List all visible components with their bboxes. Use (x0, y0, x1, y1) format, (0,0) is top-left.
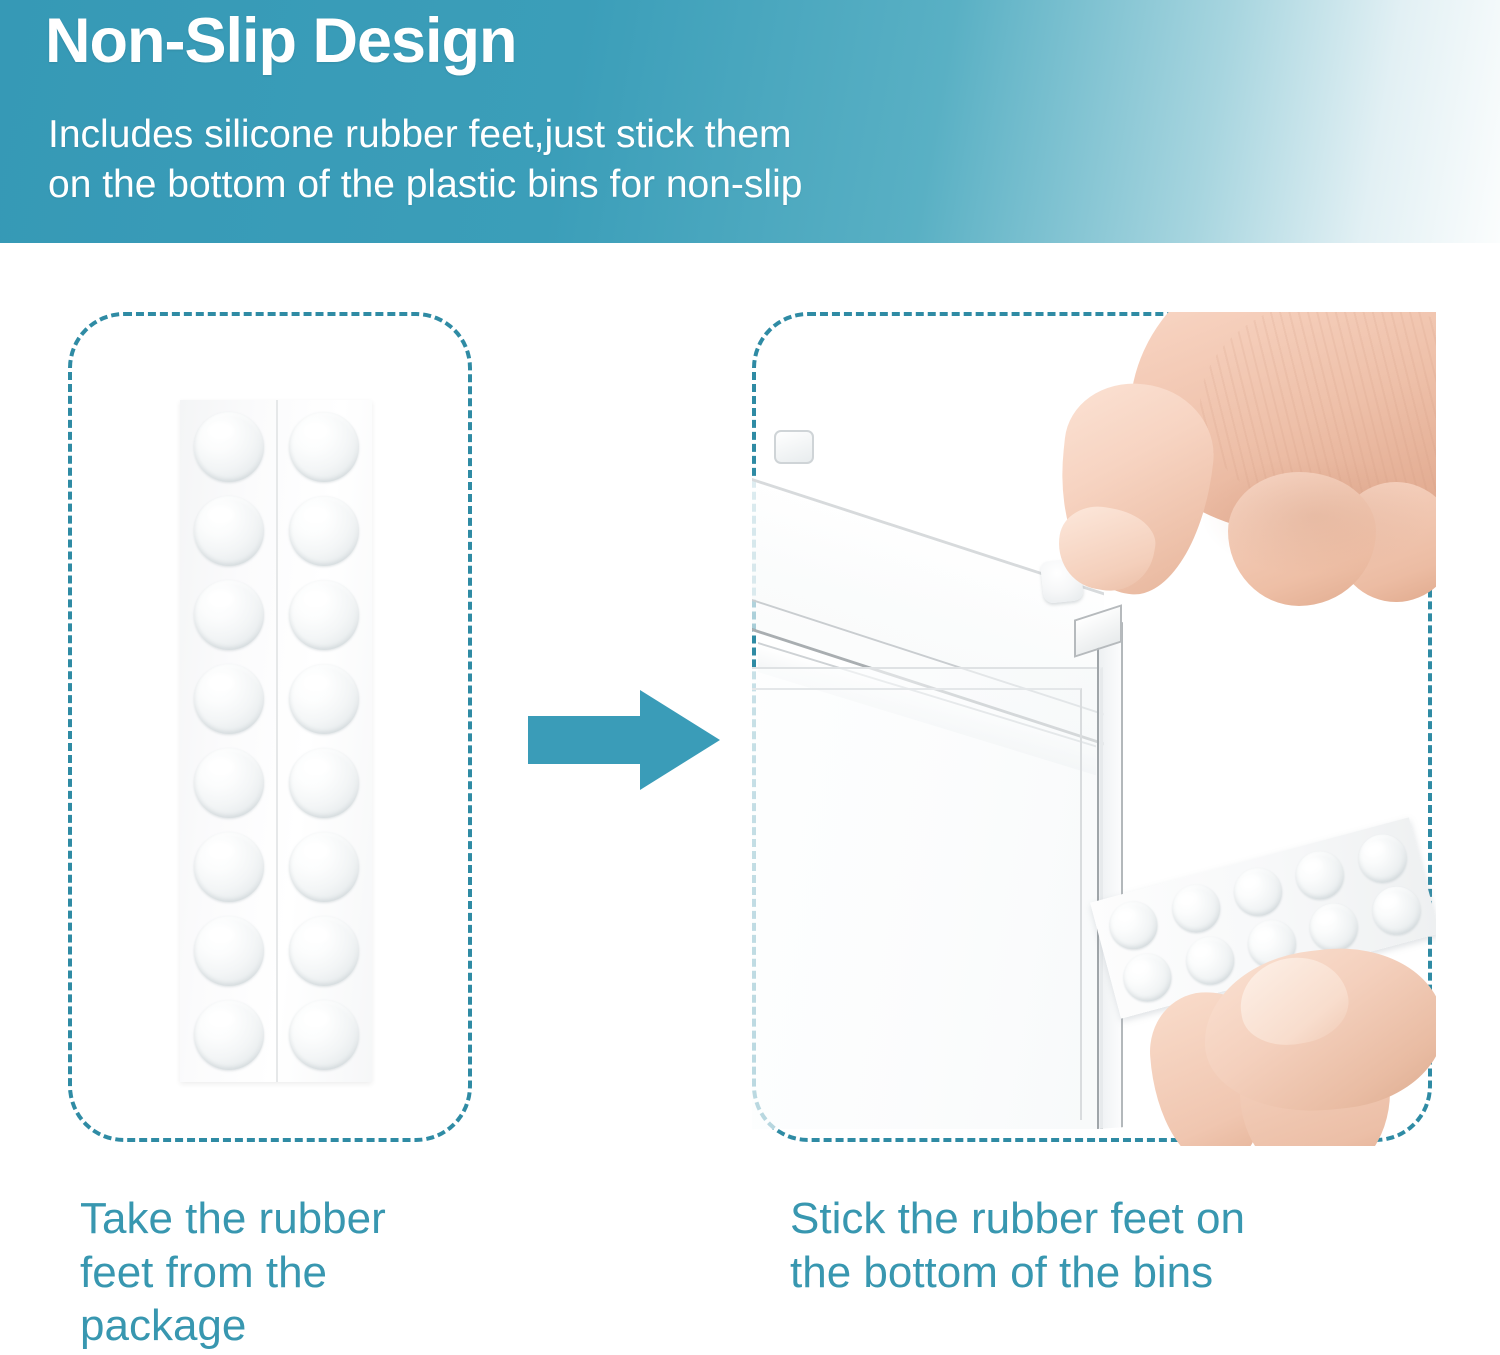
applying-feet-photo (752, 312, 1436, 1146)
rubber-foot-dome (277, 573, 370, 657)
rubber-foot-dome (182, 909, 275, 993)
header-subtitle: Includes silicone rubber feet,just stick… (48, 110, 802, 210)
rubber-foot-dome (182, 993, 275, 1077)
rubber-foot-dome (182, 657, 275, 741)
bin-right-face (1097, 622, 1123, 1129)
rubber-foot-dome (277, 909, 370, 993)
arrow-right-icon (528, 690, 720, 790)
page-title: Non-Slip Design (45, 8, 517, 74)
rubber-foot-dome (277, 489, 370, 573)
rubber-feet-sheet (180, 400, 372, 1082)
rubber-foot-dome (277, 825, 370, 909)
rubber-foot-dome (182, 741, 275, 825)
header-banner: Non-Slip Design Includes silicone rubber… (0, 0, 1500, 243)
hand-holding-strip (1144, 872, 1436, 1146)
rubber-foot-dome (182, 825, 275, 909)
rubber-foot-dome (182, 573, 275, 657)
rubber-foot-dome (182, 405, 275, 489)
rubber-foot-dome (277, 741, 370, 825)
hand-pressing-foot (1050, 312, 1436, 606)
rubber-foot-dome (277, 993, 370, 1077)
rubber-foot-dome (277, 405, 370, 489)
bin-corner-foot-far (774, 430, 814, 464)
bin-front-inner-edge (752, 688, 1082, 1120)
caption-right: Stick the rubber feet on the bottom of t… (790, 1192, 1430, 1299)
rubber-foot-dome (182, 489, 275, 573)
rubber-foot-dome (277, 657, 370, 741)
caption-left: Take the rubber feet from the package (80, 1192, 550, 1353)
